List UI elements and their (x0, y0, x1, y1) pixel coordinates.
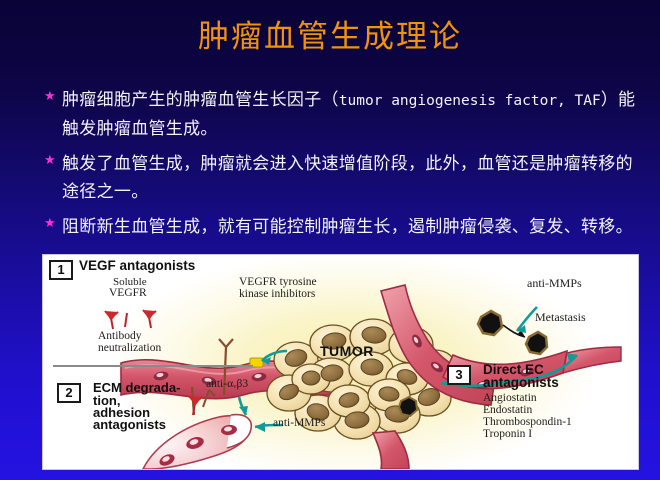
tki-label-line2: kinase inhibitors (239, 288, 315, 300)
tumor-label: TUMOR (320, 344, 374, 359)
antibody-label-line2: neutralization (98, 342, 161, 354)
angiogenesis-diagram-panel: 1 VEGF antagonists Soluble VEGFR VEGFR t… (42, 254, 639, 470)
metastasis-label: Metastasis (535, 311, 586, 324)
soluble-vegfr-label-line2: VEGFR (109, 287, 147, 299)
lower-tumor-vessel (373, 431, 409, 469)
list-item: ★ 阻断新生血管生成，就有可能控制肿瘤生长，遏制肿瘤侵袭、复发、转移。 (44, 213, 644, 241)
list-item: ★ 肿瘤细胞产生的肿瘤血管生长因子（tumor angiogenesis fac… (44, 86, 644, 143)
ec-antagonist-item-1: Endostatin (483, 404, 532, 416)
diagram-canvas: 1 VEGF antagonists Soluble VEGFR VEGFR t… (43, 255, 638, 469)
antibody-label-line1: Antibody (98, 330, 141, 342)
ec-antagonist-item-2: Thrombospondin-1 (483, 416, 572, 428)
section-1-heading: VEGF antagonists (79, 259, 195, 274)
tki-label-line1: VEGFR tyrosine (239, 276, 317, 288)
star-bullet-icon: ★ (44, 154, 62, 167)
bullet-text-1: 肿瘤细胞产生的肿瘤血管生长因子（tumor angiogenesis facto… (62, 86, 644, 143)
bullet-1-latin: tumor angiogenesis factor, TAF (339, 93, 601, 109)
soluble-vegfr-glyph (105, 310, 156, 329)
section-3-number: 3 (447, 365, 471, 385)
section-2-number: 2 (57, 383, 81, 403)
section-2-heading-line4: antagonists (93, 418, 166, 432)
section-3-heading-line2: antagonists (483, 376, 559, 391)
list-item: ★ 触发了血管生成，肿瘤就会进入快速增值阶段，此外，血管还是肿瘤转移的途径之一。 (44, 150, 644, 206)
bullet-1-pre: 肿瘤细胞产生的肿瘤血管生长因子（ (62, 90, 339, 109)
star-bullet-icon: ★ (44, 217, 62, 230)
anti-avb3-label: anti-αᵥβ3 (206, 378, 248, 390)
ec-antagonist-item-0: Angiostatin (483, 392, 537, 404)
anti-mmps-top-label: anti-MMPs (527, 277, 582, 290)
bullet-text-3: 阻断新生血管生成，就有可能控制肿瘤生长，遏制肿瘤侵袭、复发、转移。 (62, 213, 644, 241)
slide-canvas: 肿瘤血管生成理论 ★ 肿瘤细胞产生的肿瘤血管生长因子（tumor angioge… (0, 0, 660, 480)
ec-antagonist-item-3: Troponin I (483, 428, 532, 440)
anti-mmps-bottom-label: anti-MMPs (273, 417, 325, 429)
section-1-number: 1 (49, 260, 73, 280)
page-title: 肿瘤血管生成理论 (0, 18, 660, 56)
bullet-list: ★ 肿瘤细胞产生的肿瘤血管生长因子（tumor angiogenesis fac… (44, 86, 644, 248)
star-bullet-icon: ★ (44, 90, 62, 103)
bullet-text-2: 触发了血管生成，肿瘤就会进入快速增值阶段，此外，血管还是肿瘤转移的途径之一。 (62, 150, 644, 206)
section-divider (53, 365, 253, 367)
